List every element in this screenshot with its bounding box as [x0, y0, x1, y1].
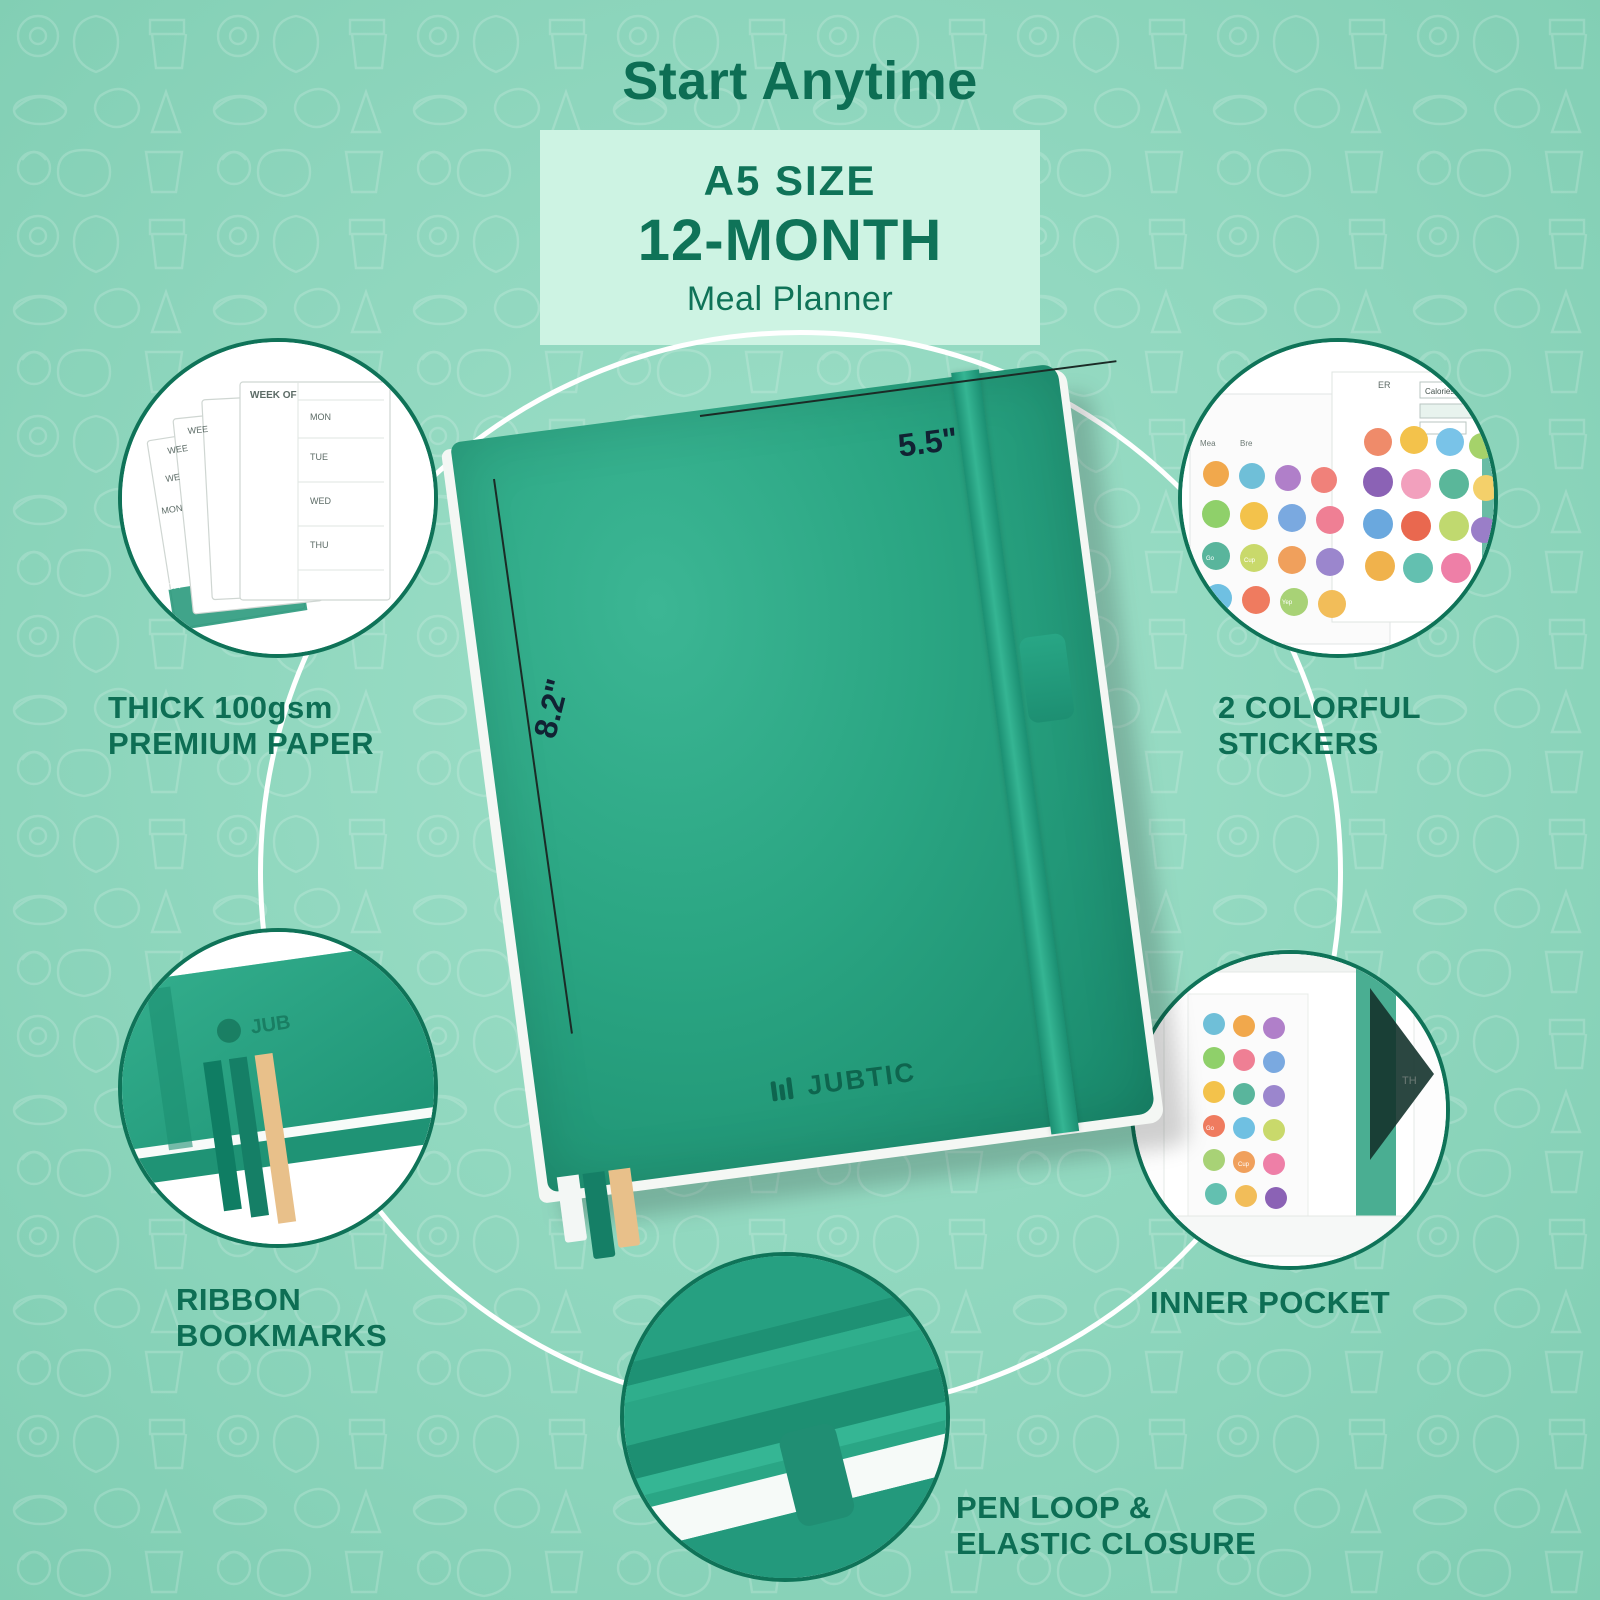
caption-thick-paper-line-2: PREMIUM PAPER: [108, 726, 488, 762]
svg-text:THU: THU: [310, 540, 329, 550]
ribbon-bookmarks-illustration: JUB: [122, 932, 438, 1248]
colorful-stickers-image: Calories Taken ER Mea Bre: [1182, 342, 1494, 654]
caption-colorful-stickers: 2 COLORFUL STICKERS: [1218, 690, 1598, 762]
feature-bubble-colorful-stickers: Calories Taken ER Mea Bre: [1178, 338, 1498, 658]
page-title: Start Anytime: [0, 50, 1600, 112]
product-notebook: JUBTIC: [440, 362, 1164, 1198]
caption-pen-loop-elastic: PEN LOOP & ELASTIC CLOSURE: [956, 1490, 1416, 1562]
svg-text:Cup: Cup: [1238, 1162, 1250, 1168]
svg-text:ER: ER: [1378, 380, 1391, 390]
jubtic-mark-icon: [766, 1073, 800, 1107]
svg-text:Cup: Cup: [1244, 558, 1256, 564]
svg-text:Yep: Yep: [1282, 600, 1293, 606]
svg-text:Mea: Mea: [1200, 439, 1216, 448]
badge-line-1: A5 SIZE: [704, 157, 877, 205]
badge-line-3: Meal Planner: [687, 280, 893, 319]
feature-bubble-thick-paper: WEEK OF MON TUE WED THU WEE WEE WE MON D…: [118, 338, 438, 658]
caption-thick-paper-line-1: THICK 100gsm: [108, 690, 488, 726]
caption-ribbon-line-2: BOOKMARKS: [176, 1318, 556, 1354]
svg-text:DA: DA: [167, 580, 181, 592]
thick-paper-image: WEEK OF MON TUE WED THU WEE WEE WE MON D…: [122, 342, 434, 654]
badge-line-2: 12-MONTH: [638, 207, 942, 274]
ribbon-bookmark-tan: [608, 1168, 640, 1248]
svg-text:Go: Go: [1206, 556, 1215, 562]
svg-text:WED: WED: [310, 496, 331, 506]
caption-stickers-line-2: STICKERS: [1218, 726, 1598, 762]
caption-thick-paper: THICK 100gsm PREMIUM PAPER: [108, 690, 488, 762]
product-infographic: Start Anytime A5 SIZE 12-MONTH Meal Plan…: [0, 0, 1600, 1600]
svg-text:Go: Go: [1206, 1126, 1215, 1132]
width-dimension-label: 5.5": [896, 420, 960, 464]
caption-pen-loop-line-2: ELASTIC CLOSURE: [956, 1526, 1416, 1562]
svg-text:WEE: WEE: [187, 424, 208, 436]
svg-text:WEEK OF: WEEK OF: [250, 390, 297, 401]
fanned-pages-illustration: WEEK OF MON TUE WED THU WEE WEE WE MON D…: [122, 342, 438, 658]
svg-text:TH: TH: [1402, 1075, 1417, 1087]
caption-ribbon-line-1: RIBBON: [176, 1282, 556, 1318]
svg-text:Calories Taken: Calories Taken: [1425, 387, 1478, 396]
svg-text:Bre: Bre: [1240, 439, 1253, 448]
caption-stickers-line-1: 2 COLORFUL: [1218, 690, 1598, 726]
feature-bubble-pen-loop-elastic: [620, 1252, 950, 1582]
caption-inner-pocket: INNER POCKET: [1150, 1285, 1530, 1321]
ribbon-bookmarks-image: JUB: [122, 932, 434, 1244]
svg-text:TUE: TUE: [310, 452, 328, 462]
pen-loop-elastic-image: [624, 1256, 946, 1578]
sticker-sheets-illustration: Calories Taken ER Mea Bre: [1182, 342, 1498, 658]
svg-text:MON: MON: [310, 412, 331, 422]
caption-pen-loop-line-1: PEN LOOP &: [956, 1490, 1416, 1526]
caption-inner-pocket-line-1: INNER POCKET: [1150, 1285, 1530, 1321]
feature-bubble-ribbon-bookmarks: JUB: [118, 928, 438, 1248]
pen-loop-illustration: [624, 1256, 950, 1582]
size-badge: A5 SIZE 12-MONTH Meal Planner: [540, 130, 1040, 345]
caption-ribbon-bookmarks: RIBBON BOOKMARKS: [176, 1282, 556, 1354]
